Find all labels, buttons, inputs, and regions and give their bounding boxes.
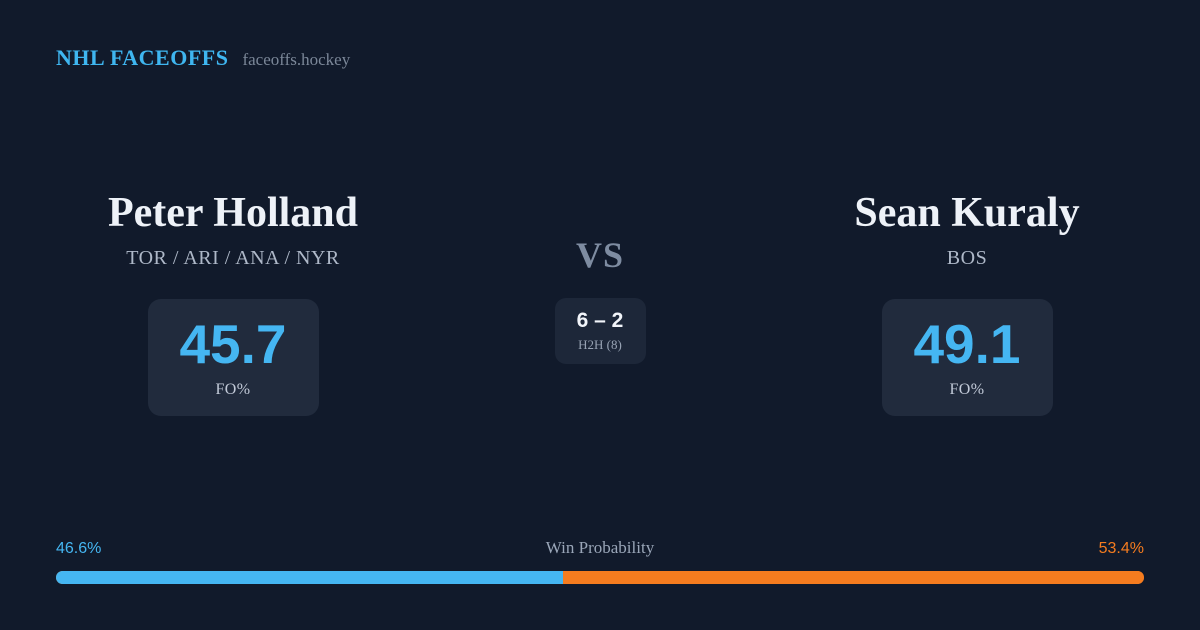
win-probability-bar	[56, 571, 1144, 584]
player-left-teams: TOR / ARI / ANA / NYR	[126, 247, 340, 270]
head-to-head-score: 6 – 2	[577, 310, 624, 331]
brand-domain: faceoffs.hockey	[242, 50, 350, 70]
win-probability-section: 46.6% Win Probability 53.4%	[56, 538, 1144, 584]
brand-logo[interactable]: NHL FACEOFFS	[56, 45, 228, 71]
player-left-stat-label: FO%	[216, 381, 251, 399]
vs-label: VS	[576, 237, 624, 273]
player-left: Peter Holland TOR / ARI / ANA / NYR 45.7…	[0, 190, 466, 416]
player-right-faceoff-pct: 49.1	[913, 317, 1020, 372]
win-probability-bar-left	[56, 571, 563, 584]
site-header: NHL FACEOFFS faceoffs.hockey	[56, 45, 350, 71]
win-probability-labels: 46.6% Win Probability 53.4%	[56, 538, 1144, 560]
player-left-faceoff-pct: 45.7	[179, 317, 286, 372]
versus-block: VS 6 – 2 H2H (8)	[466, 190, 734, 364]
player-left-name: Peter Holland	[108, 190, 358, 236]
player-right-name: Sean Kuraly	[854, 190, 1079, 236]
player-right-teams: BOS	[947, 247, 987, 270]
win-probability-title: Win Probability	[546, 538, 654, 558]
win-probability-bar-right	[563, 571, 1144, 584]
matchup-section: Peter Holland TOR / ARI / ANA / NYR 45.7…	[0, 190, 1200, 416]
head-to-head-label: H2H (8)	[578, 337, 622, 353]
win-probability-right-value: 53.4%	[1099, 540, 1144, 558]
win-probability-left-value: 46.6%	[56, 540, 101, 558]
head-to-head-card: 6 – 2 H2H (8)	[555, 298, 646, 364]
player-right: Sean Kuraly BOS 49.1 FO%	[734, 190, 1200, 416]
player-right-stat-card: 49.1 FO%	[882, 299, 1053, 416]
player-right-stat-label: FO%	[950, 381, 985, 399]
player-left-stat-card: 45.7 FO%	[148, 299, 319, 416]
